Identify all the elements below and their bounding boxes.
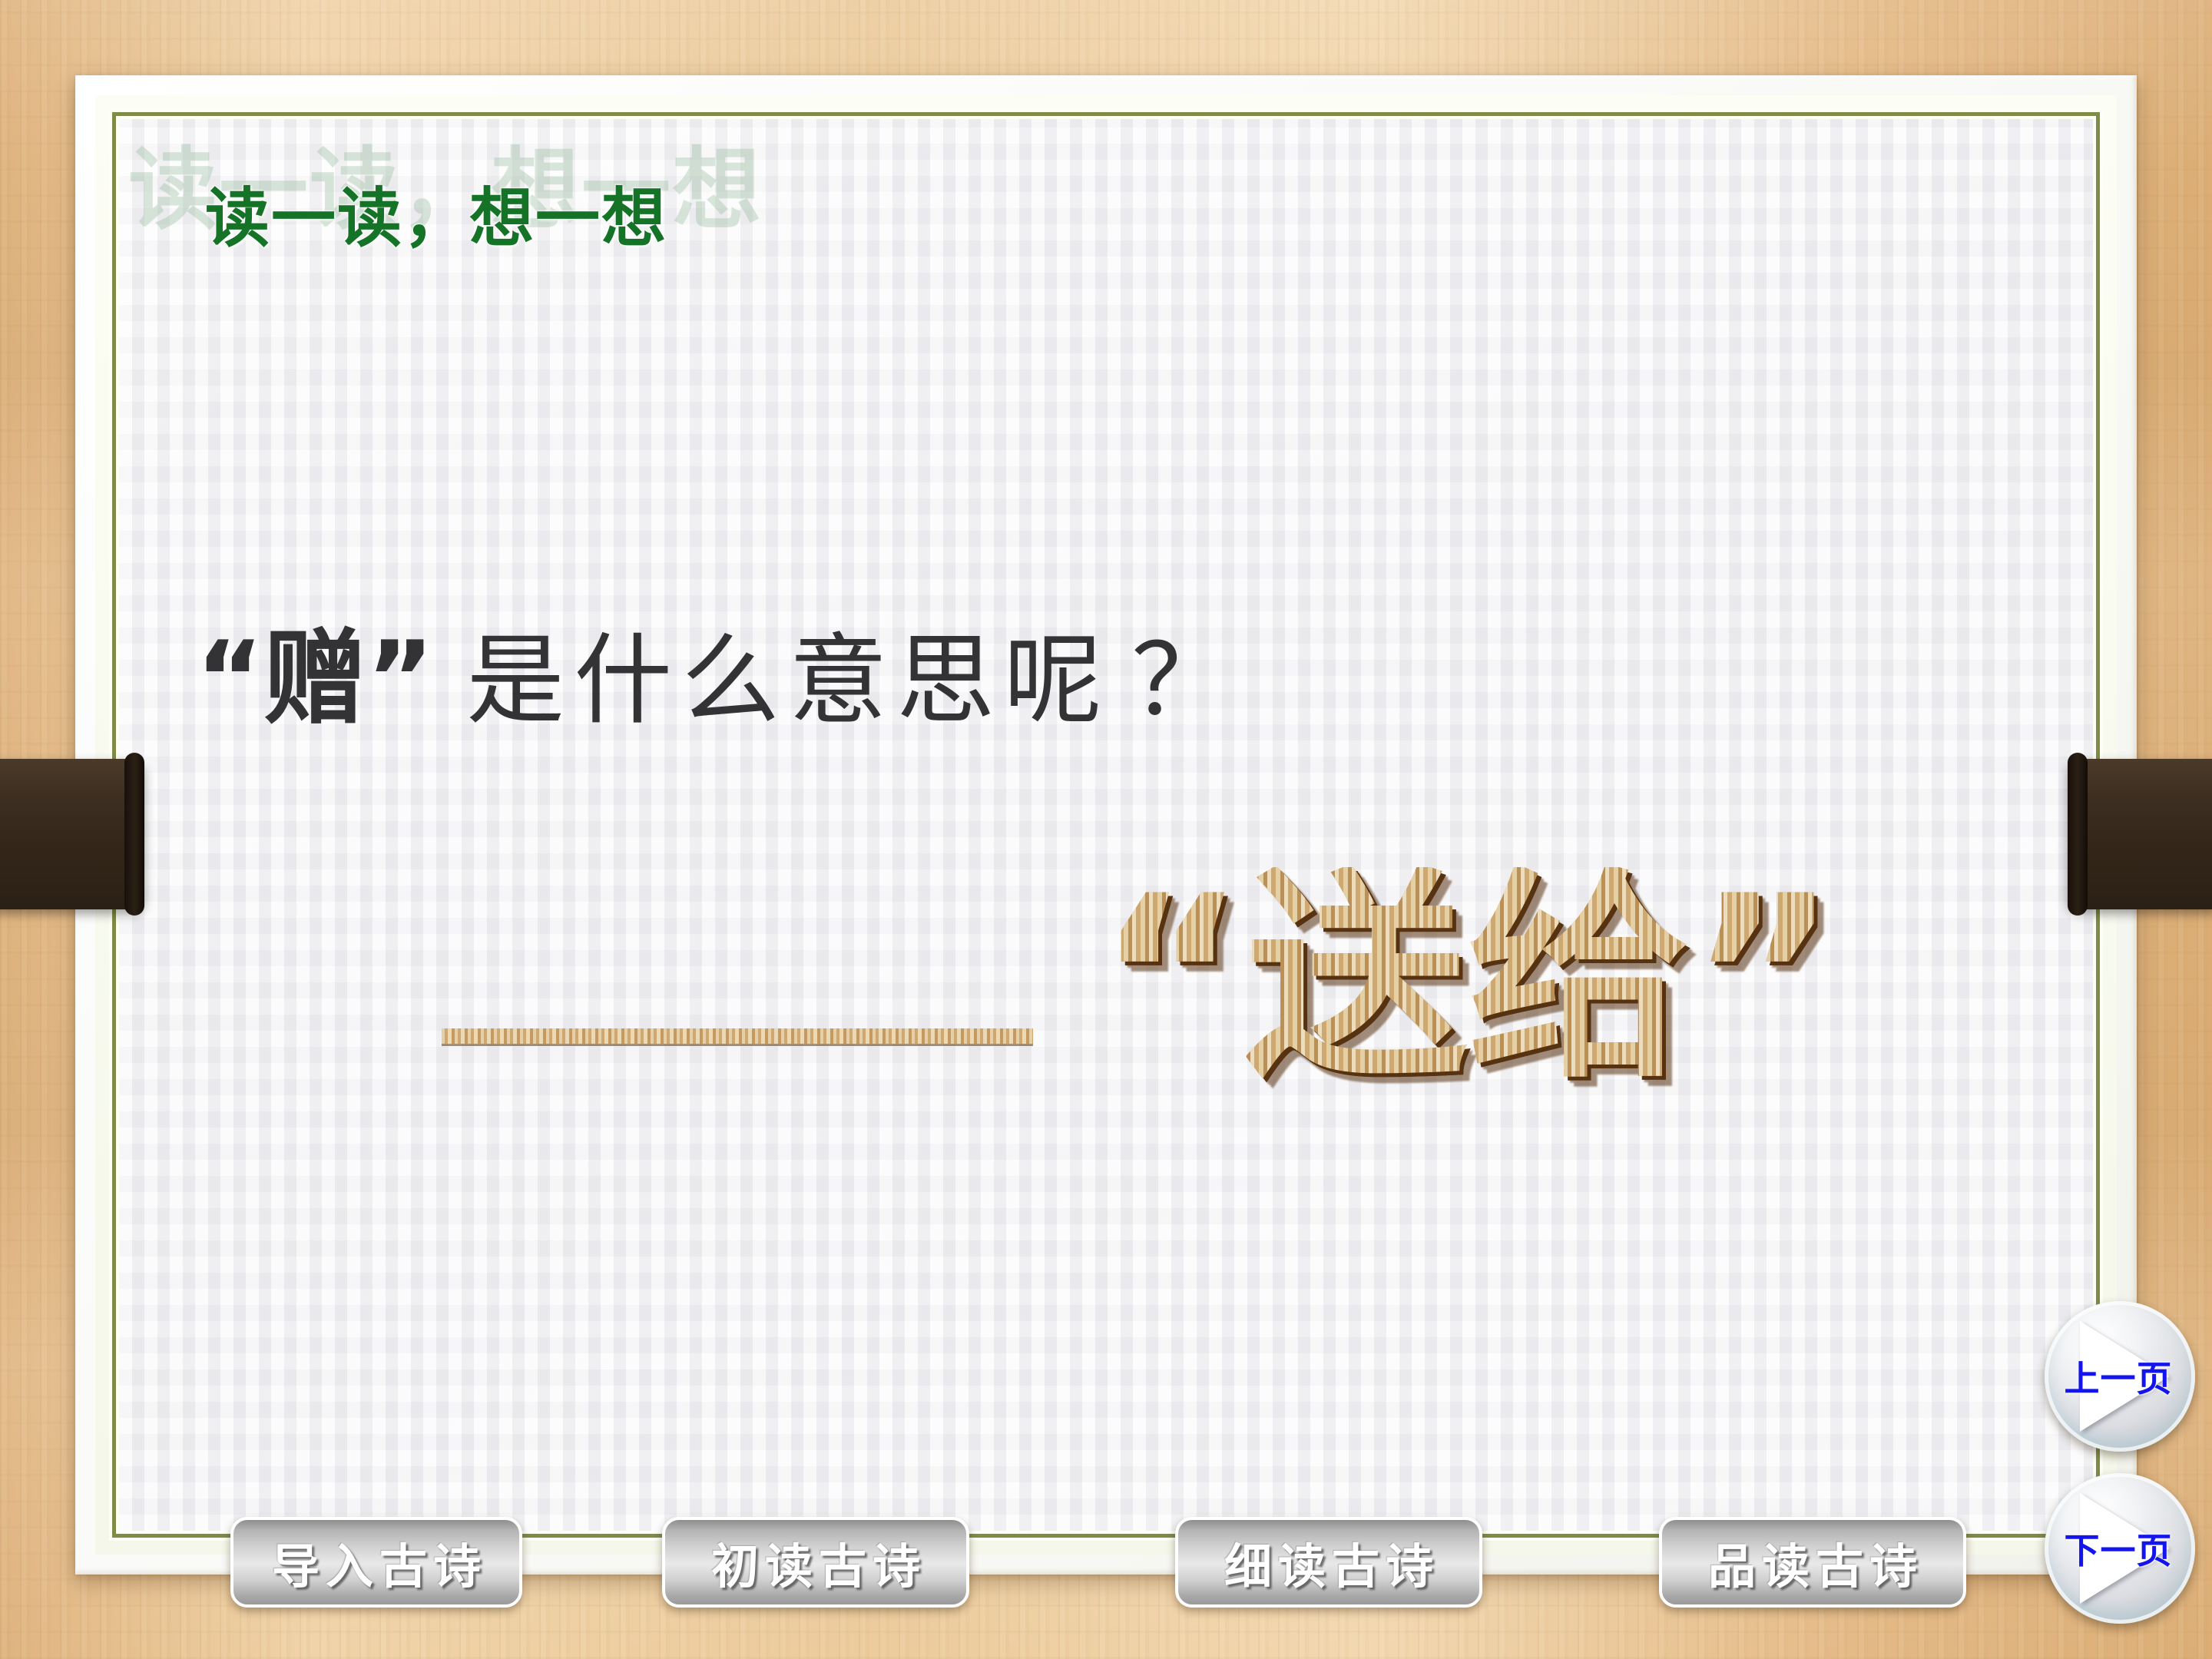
answer-text: “送给” <box>1098 867 1836 1090</box>
chapter-button-appreciation-reading[interactable]: 品读古诗 <box>1659 1517 1966 1608</box>
next-page-label: 下一页 <box>2065 1523 2173 1574</box>
chapter-button-first-reading[interactable]: 初读古诗 <box>662 1517 969 1608</box>
chapter-button-label: 导入古诗 <box>266 1528 487 1597</box>
slide-canvas: 读一读，想一想 读一读，想一想 “赠”是什么意思呢？ “送给” 导入古诗 初读古… <box>0 0 2212 1659</box>
previous-page-label: 上一页 <box>2065 1351 2173 1402</box>
chapter-button-label: 初读古诗 <box>705 1528 926 1597</box>
answer-row: “送给” <box>442 887 1978 1148</box>
right-scroll-rod <box>2068 759 2212 909</box>
answer-dash-line <box>442 1028 1033 1044</box>
right-rod-cap <box>2068 753 2088 916</box>
previous-page-button[interactable]: 上一页 <box>2045 1301 2195 1452</box>
question-keyword: “赠” <box>196 619 434 739</box>
question-mark: ？ <box>1131 624 1234 738</box>
chapter-button-close-reading[interactable]: 细读古诗 <box>1175 1517 1482 1608</box>
slide-frame: 读一读，想一想 读一读，想一想 “赠”是什么意思呢？ “送给” <box>75 75 2137 1575</box>
chapter-navigation-bar: 导入古诗 初读古诗 细读古诗 品读古诗 <box>0 1517 2212 1617</box>
page-title: 读一读，想一想 读一读，想一想 <box>165 147 1240 331</box>
page-title-text: 读一读，想一想 <box>205 167 667 260</box>
question-line: “赠”是什么意思呢？ <box>196 595 1234 744</box>
question-body: 是什么意思呢 <box>466 624 1111 738</box>
left-scroll-rod <box>0 759 144 909</box>
next-page-button[interactable]: 下一页 <box>2045 1473 2195 1624</box>
chapter-button-import-poem[interactable]: 导入古诗 <box>230 1517 522 1608</box>
left-rod-cap <box>124 753 144 916</box>
chapter-button-label: 品读古诗 <box>1702 1528 1923 1597</box>
slide-content-area: 读一读，想一想 读一读，想一想 “赠”是什么意思呢？ “送给” <box>119 119 2093 1531</box>
chapter-button-label: 细读古诗 <box>1218 1528 1439 1597</box>
